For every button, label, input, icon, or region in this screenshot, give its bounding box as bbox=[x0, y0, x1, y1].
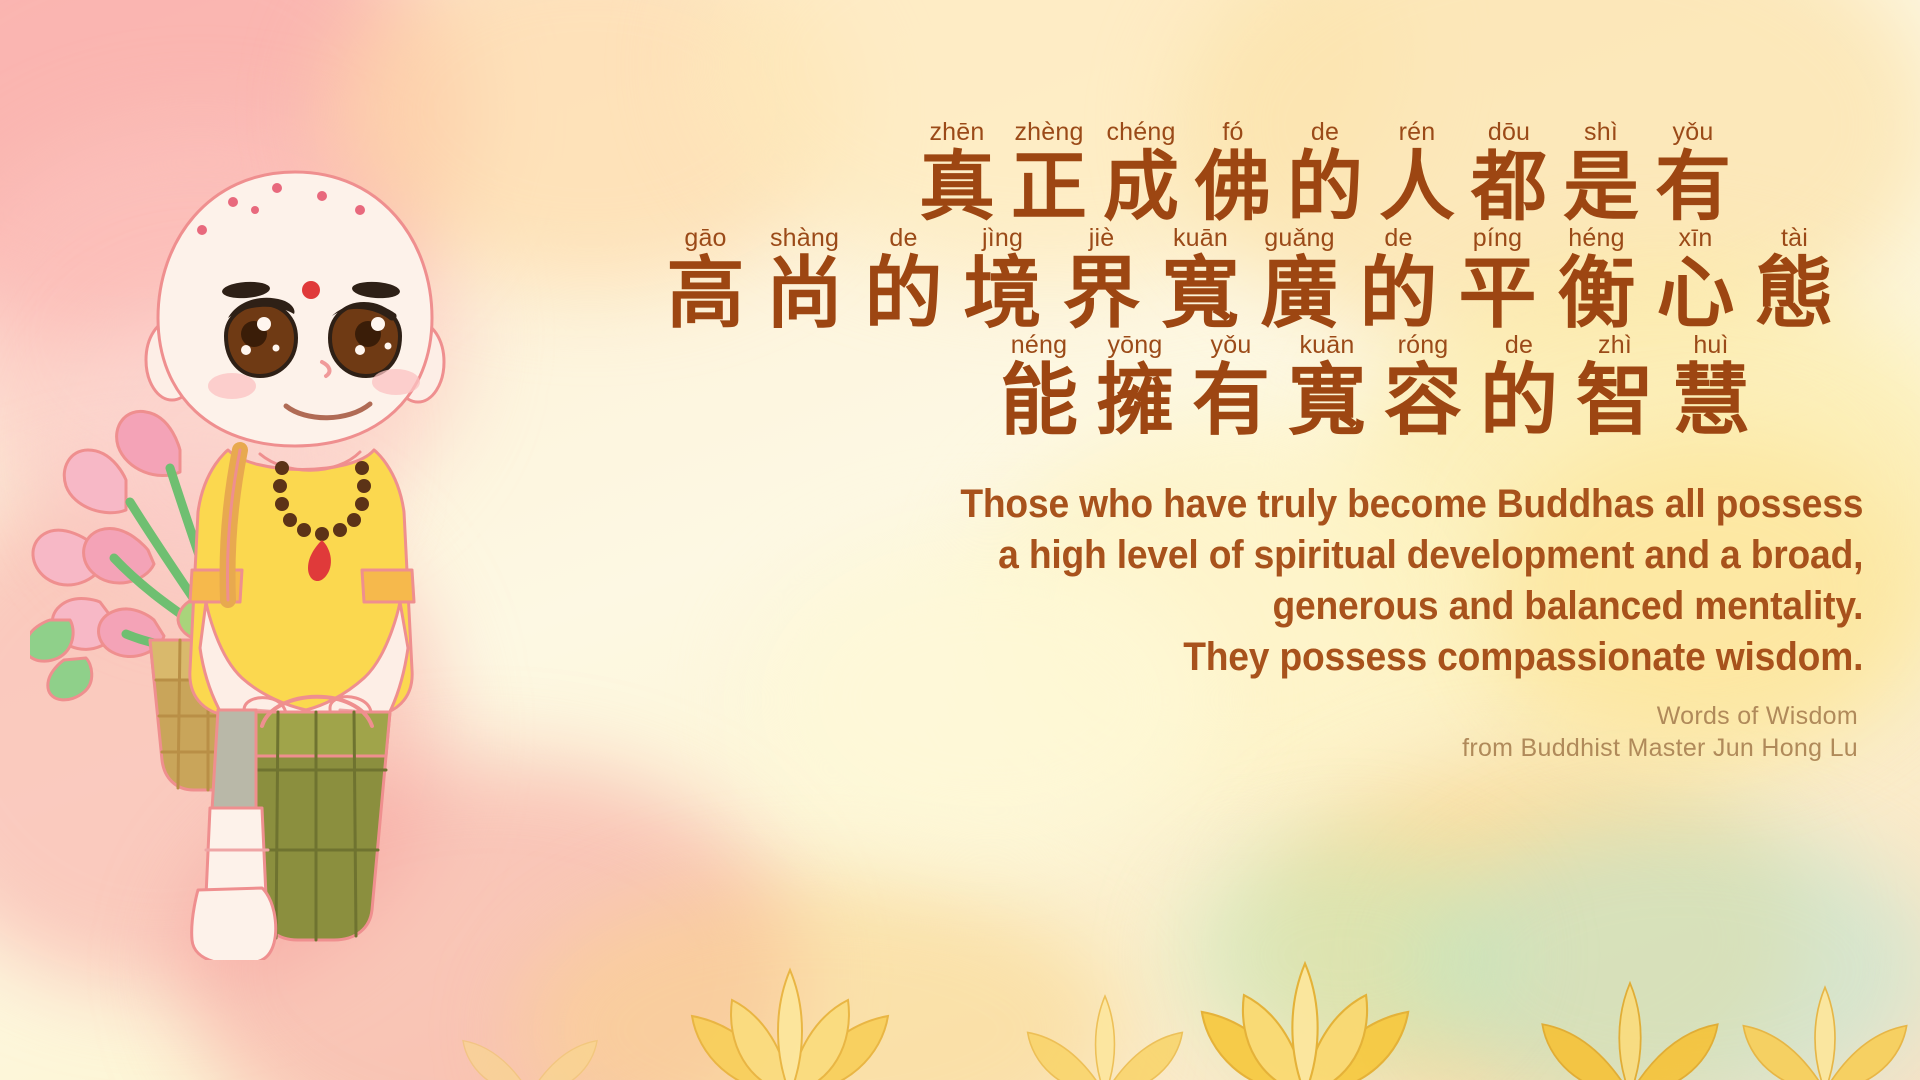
hanzi-char: 的 bbox=[1279, 148, 1371, 226]
hanzi-char: 的 bbox=[854, 254, 953, 334]
verse-line-3: néng yōng yǒu kuān róng de zhì huì 能 擁 有… bbox=[870, 333, 1880, 441]
hanzi-char: 成 bbox=[1095, 148, 1187, 226]
english-line: generous and balanced mentality. bbox=[708, 581, 1863, 632]
blush bbox=[372, 369, 420, 395]
pinyin-syllable: kuān bbox=[1151, 226, 1250, 251]
pinyin-row-2: gāo shàng de jìng jiè kuān guǎng de píng… bbox=[620, 226, 1880, 251]
eye bbox=[330, 304, 400, 376]
english-line: They possess compassionate wisdom. bbox=[708, 632, 1863, 683]
pinyin-syllable: shàng bbox=[755, 226, 854, 251]
hanzi-char: 慧 bbox=[1663, 361, 1759, 441]
hanzi-row-1: 真 正 成 佛 的 人 都 是 有 bbox=[770, 148, 1880, 226]
pinyin-syllable: de bbox=[1349, 226, 1448, 251]
pinyin-syllable: héng bbox=[1547, 226, 1646, 251]
hanzi-row-2: 高 尚 的 境 界 寬 廣 的 平 衡 心 態 bbox=[620, 254, 1880, 334]
hanzi-char: 能 bbox=[991, 361, 1087, 441]
hanzi-char: 容 bbox=[1375, 361, 1471, 441]
pinyin-syllable: jìng bbox=[953, 226, 1052, 251]
hanzi-char: 擁 bbox=[1087, 361, 1183, 441]
verse-text-column: zhēn zhèng chéng fó de rén dōu shì yǒu 真… bbox=[620, 120, 1880, 940]
hanzi-char: 廣 bbox=[1250, 254, 1349, 334]
hanzi-char: 有 bbox=[1183, 361, 1279, 441]
hanzi-row-3: 能 擁 有 寬 容 的 智 慧 bbox=[870, 361, 1880, 441]
pinyin-syllable: de bbox=[854, 226, 953, 251]
lotus-flower-icon bbox=[420, 964, 640, 1080]
attribution-author: from Buddhist Master Jun Hong Lu bbox=[620, 733, 1858, 764]
hanzi-char: 高 bbox=[656, 254, 755, 334]
hanzi-char: 人 bbox=[1371, 148, 1463, 226]
hanzi-char: 的 bbox=[1471, 361, 1567, 441]
hanzi-char: 是 bbox=[1555, 148, 1647, 226]
forehead-dot bbox=[302, 281, 320, 299]
eye bbox=[226, 298, 296, 376]
poster-canvas: zhēn zhèng chéng fó de rén dōu shì yǒu 真… bbox=[0, 0, 1920, 1080]
hanzi-char: 佛 bbox=[1187, 148, 1279, 226]
blush bbox=[208, 373, 256, 399]
hanzi-char: 寬 bbox=[1151, 254, 1250, 334]
hanzi-char: 真 bbox=[911, 148, 1003, 226]
hanzi-char: 衡 bbox=[1547, 254, 1646, 334]
pinyin-syllable: tài bbox=[1745, 226, 1844, 251]
verse-line-2: gāo shàng de jìng jiè kuān guǎng de píng… bbox=[620, 226, 1880, 334]
hanzi-char: 境 bbox=[953, 254, 1052, 334]
attribution-title: Words of Wisdom bbox=[620, 701, 1858, 732]
english-line: Those who have truly become Buddhas all … bbox=[708, 479, 1863, 530]
english-line: a high level of spiritual development an… bbox=[708, 530, 1863, 581]
pinyin-syllable: gāo bbox=[656, 226, 755, 251]
hanzi-char: 平 bbox=[1448, 254, 1547, 334]
hanzi-char: 智 bbox=[1567, 361, 1663, 441]
hanzi-char: 態 bbox=[1745, 254, 1844, 334]
hanzi-char: 都 bbox=[1463, 148, 1555, 226]
hanzi-char: 尚 bbox=[755, 254, 854, 334]
hanzi-char: 的 bbox=[1349, 254, 1448, 334]
pinyin-syllable: jiè bbox=[1052, 226, 1151, 251]
english-translation: Those who have truly become Buddhas all … bbox=[708, 479, 1880, 684]
hanzi-char: 界 bbox=[1052, 254, 1151, 334]
pinyin-syllable: guǎng bbox=[1250, 226, 1349, 251]
hanzi-char: 寬 bbox=[1279, 361, 1375, 441]
hanzi-char: 有 bbox=[1647, 148, 1739, 226]
hanzi-char: 正 bbox=[1003, 148, 1095, 226]
head bbox=[158, 172, 432, 446]
pinyin-syllable: xīn bbox=[1646, 226, 1745, 251]
verse-line-1: zhēn zhèng chéng fó de rén dōu shì yǒu 真… bbox=[770, 120, 1880, 226]
attribution: Words of Wisdom from Buddhist Master Jun… bbox=[620, 701, 1880, 764]
pinyin-syllable: píng bbox=[1448, 226, 1547, 251]
lotus-flower-icon bbox=[1700, 929, 1920, 1080]
hanzi-char: 心 bbox=[1646, 254, 1745, 334]
cartoon-monk-illustration bbox=[30, 150, 550, 960]
